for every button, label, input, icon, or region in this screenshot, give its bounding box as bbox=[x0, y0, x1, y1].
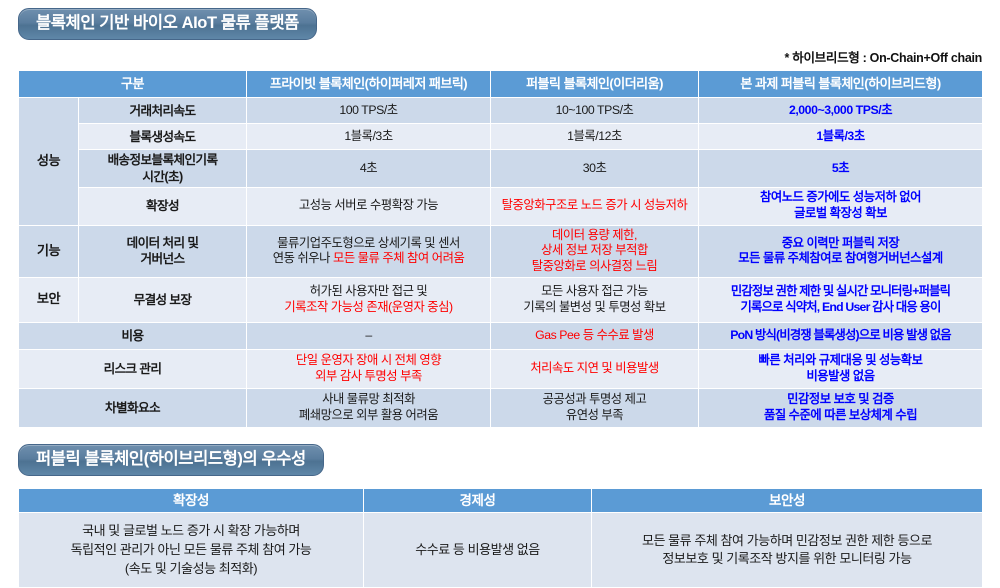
cell-private-data-governance: 물류기업주도형으로 상세기록 및 센서 연동 쉬우나 모든 물류 주체 참여 어… bbox=[247, 225, 491, 277]
table-row: 기능 데이터 처리 및 거버넌스 물류기업주도형으로 상세기록 및 센서 연동 … bbox=[19, 225, 983, 277]
cell-public-record-time: 30초 bbox=[491, 150, 699, 187]
cell-hybrid-record-time: 5초 bbox=[699, 150, 983, 187]
adv-cell-scalability-line3: (속도 및 기술성능 최적화) bbox=[27, 560, 355, 579]
cell-hybrid-scalability: 참여노드 증가에도 성능저하 없어 글로벌 확장성 확보 bbox=[699, 187, 983, 225]
cell-public-tx-speed: 10~100 TPS/초 bbox=[491, 98, 699, 124]
cell-private-data-governance-line2a: 연동 쉬우나 bbox=[273, 251, 333, 265]
cell-hybrid-data-governance-line1: 중요 이력만 퍼블릭 저장 bbox=[703, 236, 978, 252]
section2-badge-row: 퍼블릭 블록체인(하이브리드형)의 우수성 bbox=[0, 444, 1000, 476]
cell-public-data-governance-line2: 상세 정보 저장 부적합 bbox=[495, 243, 694, 259]
col-header-public: 퍼블릭 블록체인(이더리움) bbox=[491, 71, 699, 98]
table-row: 국내 및 글로벌 노드 증가 시 확장 가능하며 독립적인 관리가 아닌 모든 … bbox=[19, 513, 983, 588]
table-header-row: 구분 프라이빗 블록체인(하이퍼레저 패브릭) 퍼블릭 블록체인(이더리움) 본… bbox=[19, 71, 983, 98]
row-label-integrity: 무결성 보장 bbox=[79, 277, 247, 322]
col-header-private: 프라이빗 블록체인(하이퍼레저 패브릭) bbox=[247, 71, 491, 98]
cell-hybrid-differentiator-line2: 품질 수준에 따른 보상체계 수립 bbox=[703, 408, 978, 424]
cell-hybrid-integrity-line2: 기록으로 식약처, End User 감사 대응 용이 bbox=[703, 300, 978, 316]
row-label-scalability: 확장성 bbox=[79, 187, 247, 225]
cell-public-scalability: 탈중앙화구조로 노드 증가 시 성능저하 bbox=[491, 187, 699, 225]
cell-public-block-speed: 1블록/12초 bbox=[491, 124, 699, 150]
advantages-table-wrap: 확장성 경제성 보안성 국내 및 글로벌 노드 증가 시 확장 가능하며 독립적… bbox=[0, 488, 1000, 588]
cell-private-differentiator: 사내 물류망 최적화 폐쇄망으로 외부 활용 어려움 bbox=[247, 388, 491, 427]
cell-private-risk-line1: 단일 운영자 장애 시 전체 영향 bbox=[251, 353, 486, 369]
cell-hybrid-scalability-line1: 참여노드 증가에도 성능저하 없어 bbox=[703, 190, 978, 206]
row-label-data-governance-line2: 거버넌스 bbox=[83, 251, 242, 267]
hybrid-note: * 하이브리드형 : On-Chain+Off chain bbox=[0, 47, 1000, 66]
cell-private-block-speed: 1블록/3초 bbox=[247, 124, 491, 150]
cell-private-cost: – bbox=[247, 322, 491, 349]
cell-hybrid-data-governance-line2: 모든 물류 주체참여로 참여형거버넌스설계 bbox=[703, 251, 978, 267]
row-label-data-governance-line1: 데이터 처리 및 bbox=[83, 235, 242, 251]
cell-hybrid-scalability-line2: 글로벌 확장성 확보 bbox=[703, 206, 978, 222]
cell-hybrid-integrity-line1: 민감정보 권한 제한 및 실시간 모니터링+퍼블릭 bbox=[703, 284, 978, 300]
cell-private-differentiator-line1: 사내 물류망 최적화 bbox=[251, 392, 486, 408]
cell-private-data-governance-line1: 물류기업주도형으로 상세기록 및 센서 bbox=[251, 236, 486, 252]
table-row: 블록생성속도 1블록/3초 1블록/12초 1블록/3초 bbox=[19, 124, 983, 150]
cell-private-risk: 단일 운영자 장애 시 전체 영향 외부 감사 투명성 부족 bbox=[247, 349, 491, 388]
table-row: 배송정보블록체인기록 시간(초) 4초 30초 5초 bbox=[19, 150, 983, 187]
cell-private-integrity-line1: 허가된 사용자만 접근 및 bbox=[251, 284, 486, 300]
advantages-table-body: 국내 및 글로벌 노드 증가 시 확장 가능하며 독립적인 관리가 아닌 모든 … bbox=[19, 513, 983, 588]
row-label-record-time-line2: 시간(초) bbox=[83, 169, 242, 185]
row-label-risk: 리스크 관리 bbox=[19, 349, 247, 388]
cell-hybrid-data-governance: 중요 이력만 퍼블릭 저장 모든 물류 주체참여로 참여형거버넌스설계 bbox=[699, 225, 983, 277]
comparison-table-head: 구분 프라이빗 블록체인(하이퍼레저 패브릭) 퍼블릭 블록체인(이더리움) 본… bbox=[19, 71, 983, 98]
adv-cell-security: 모든 물류 주체 참여 가능하며 민감정보 권한 제한 등으로 정보보호 및 기… bbox=[592, 513, 983, 588]
comparison-table-wrap: 구분 프라이빗 블록체인(하이퍼레저 패브릭) 퍼블릭 블록체인(이더리움) 본… bbox=[0, 70, 1000, 427]
cell-private-tx-speed: 100 TPS/초 bbox=[247, 98, 491, 124]
group-label-function: 기능 bbox=[19, 225, 79, 277]
cell-hybrid-block-speed: 1블록/3초 bbox=[699, 124, 983, 150]
comparison-table: 구분 프라이빗 블록체인(하이퍼레저 패브릭) 퍼블릭 블록체인(이더리움) 본… bbox=[18, 70, 983, 427]
cell-hybrid-risk-line2: 비용발생 없음 bbox=[703, 369, 978, 385]
table-row: 성능 거래처리속도 100 TPS/초 10~100 TPS/초 2,000~3… bbox=[19, 98, 983, 124]
cell-public-differentiator-line2: 유연성 부족 bbox=[495, 408, 694, 424]
cell-public-differentiator: 공공성과 투명성 제고 유연성 부족 bbox=[491, 388, 699, 427]
advantages-table-head: 확장성 경제성 보안성 bbox=[19, 489, 983, 513]
cell-public-data-governance: 데이터 용량 제한, 상세 정보 저장 부적합 탈중앙화로 의사결정 느림 bbox=[491, 225, 699, 277]
adv-col-header-economy: 경제성 bbox=[364, 489, 592, 513]
row-label-record-time-line1: 배송정보블록체인기록 bbox=[83, 152, 242, 168]
col-header-category: 구분 bbox=[19, 71, 247, 98]
cell-hybrid-risk-line1: 빠른 처리와 규제대응 및 성능확보 bbox=[703, 353, 978, 369]
adv-col-header-security: 보안성 bbox=[592, 489, 983, 513]
row-label-data-governance: 데이터 처리 및 거버넌스 bbox=[79, 225, 247, 277]
cell-private-scalability: 고성능 서버로 수평확장 가능 bbox=[247, 187, 491, 225]
cell-private-record-time: 4초 bbox=[247, 150, 491, 187]
col-header-hybrid: 본 과제 퍼블릭 블록체인(하이브리드형) bbox=[699, 71, 983, 98]
table-row: 보안 무결성 보장 허가된 사용자만 접근 및 기록조작 가능성 존재(운영자 … bbox=[19, 277, 983, 322]
cell-private-integrity-line2: 기록조작 가능성 존재(운영자 중심) bbox=[251, 300, 486, 316]
adv-cell-economy: 수수료 등 비용발생 없음 bbox=[364, 513, 592, 588]
cell-private-risk-line2: 외부 감사 투명성 부족 bbox=[251, 369, 486, 385]
cell-private-differentiator-line2: 폐쇄망으로 외부 활용 어려움 bbox=[251, 408, 486, 424]
advantages-gap bbox=[0, 476, 1000, 488]
cell-public-cost: Gas Pee 등 수수료 발생 bbox=[491, 322, 699, 349]
cell-public-risk: 처리속도 지연 및 비용발생 bbox=[491, 349, 699, 388]
row-label-block-speed: 블록생성속도 bbox=[79, 124, 247, 150]
row-label-tx-speed: 거래처리속도 bbox=[79, 98, 247, 124]
group-label-security: 보안 bbox=[19, 277, 79, 322]
cell-public-integrity: 모든 사용자 접근 가능 기록의 불변성 및 투명성 확보 bbox=[491, 277, 699, 322]
adv-cell-scalability-line1: 국내 및 글로벌 노드 증가 시 확장 가능하며 bbox=[27, 522, 355, 541]
cell-hybrid-differentiator: 민감정보 보호 및 검증 품질 수준에 따른 보상체계 수립 bbox=[699, 388, 983, 427]
cell-hybrid-differentiator-line1: 민감정보 보호 및 검증 bbox=[703, 392, 978, 408]
section2-title-badge: 퍼블릭 블록체인(하이브리드형)의 우수성 bbox=[18, 444, 324, 476]
top-spacer bbox=[0, 0, 1000, 8]
adv-cell-scalability-line2: 독립적인 관리가 아닌 모든 물류 주체 참여 가능 bbox=[27, 541, 355, 560]
cell-public-data-governance-line1: 데이터 용량 제한, bbox=[495, 228, 694, 244]
cell-private-data-governance-line2b: 모든 물류 주체 참여 어려움 bbox=[333, 251, 464, 265]
cell-hybrid-risk: 빠른 처리와 규제대응 및 성능확보 비용발생 없음 bbox=[699, 349, 983, 388]
cell-public-differentiator-line1: 공공성과 투명성 제고 bbox=[495, 392, 694, 408]
section-gap bbox=[0, 428, 1000, 444]
cell-hybrid-integrity: 민감정보 권한 제한 및 실시간 모니터링+퍼블릭 기록으로 식약처, End … bbox=[699, 277, 983, 322]
section1-badge-row: 블록체인 기반 바이오 AIoT 물류 플랫폼 bbox=[0, 8, 1000, 40]
row-label-differentiator: 차별화요소 bbox=[19, 388, 247, 427]
adv-col-header-scalability: 확장성 bbox=[19, 489, 364, 513]
cell-public-integrity-line1: 모든 사용자 접근 가능 bbox=[495, 284, 694, 300]
row-label-cost: 비용 bbox=[19, 322, 247, 349]
table-header-row: 확장성 경제성 보안성 bbox=[19, 489, 983, 513]
table-row: 차별화요소 사내 물류망 최적화 폐쇄망으로 외부 활용 어려움 공공성과 투명… bbox=[19, 388, 983, 427]
comparison-table-body: 성능 거래처리속도 100 TPS/초 10~100 TPS/초 2,000~3… bbox=[19, 98, 983, 427]
adv-cell-security-line1: 모든 물류 주체 참여 가능하며 민감정보 권한 제한 등으로 bbox=[600, 532, 974, 551]
table-row: 확장성 고성능 서버로 수평확장 가능 탈중앙화구조로 노드 증가 시 성능저하… bbox=[19, 187, 983, 225]
group-label-performance: 성능 bbox=[19, 98, 79, 225]
cell-public-data-governance-line3: 탈중앙화로 의사결정 느림 bbox=[495, 259, 694, 275]
row-label-record-time: 배송정보블록체인기록 시간(초) bbox=[79, 150, 247, 187]
table-row: 비용 – Gas Pee 등 수수료 발생 PoN 방식(비경쟁 블록생성)으로… bbox=[19, 322, 983, 349]
table-row: 리스크 관리 단일 운영자 장애 시 전체 영향 외부 감사 투명성 부족 처리… bbox=[19, 349, 983, 388]
section1-title-badge: 블록체인 기반 바이오 AIoT 물류 플랫폼 bbox=[18, 8, 317, 40]
cell-hybrid-cost: PoN 방식(비경쟁 블록생성)으로 비용 발생 없음 bbox=[699, 322, 983, 349]
advantages-table: 확장성 경제성 보안성 국내 및 글로벌 노드 증가 시 확장 가능하며 독립적… bbox=[18, 488, 983, 588]
adv-cell-scalability: 국내 및 글로벌 노드 증가 시 확장 가능하며 독립적인 관리가 아닌 모든 … bbox=[19, 513, 364, 588]
cell-private-integrity: 허가된 사용자만 접근 및 기록조작 가능성 존재(운영자 중심) bbox=[247, 277, 491, 322]
cell-public-integrity-line2: 기록의 불변성 및 투명성 확보 bbox=[495, 300, 694, 316]
adv-cell-security-line2: 정보보호 및 기록조작 방지를 위한 모니터링 가능 bbox=[600, 550, 974, 569]
cell-hybrid-tx-speed: 2,000~3,000 TPS/초 bbox=[699, 98, 983, 124]
